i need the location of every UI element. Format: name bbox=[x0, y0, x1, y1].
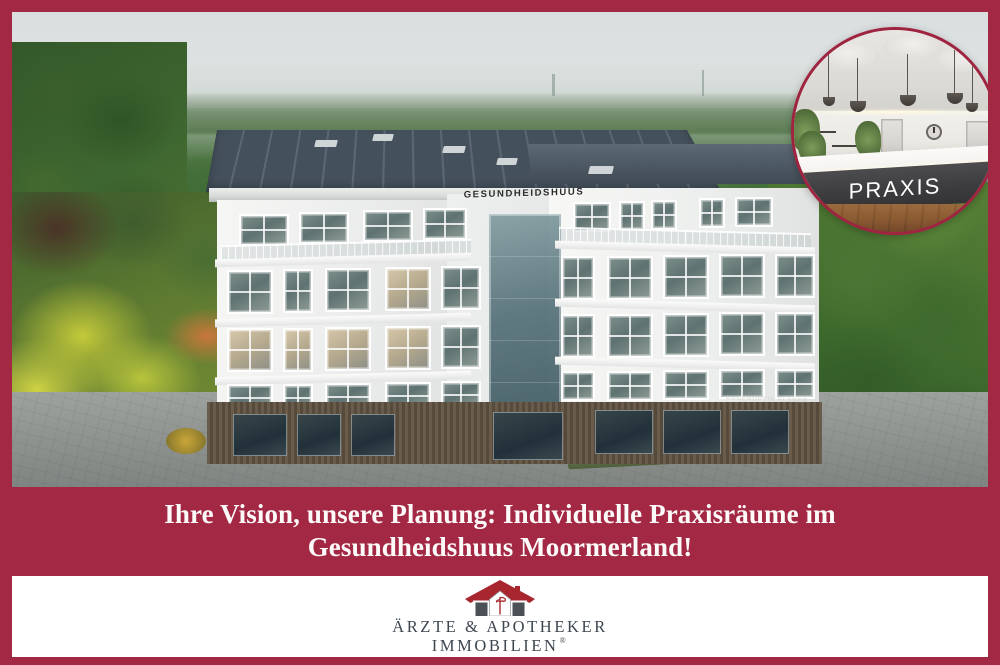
real-estate-poster: GESUNDHEIDSHUUS bbox=[0, 0, 1000, 665]
window bbox=[665, 257, 707, 297]
window bbox=[387, 328, 429, 368]
pendant-cord bbox=[828, 54, 829, 98]
church-spire-icon bbox=[552, 74, 555, 96]
wooden-floor bbox=[794, 204, 988, 232]
window bbox=[563, 373, 593, 399]
window bbox=[609, 373, 651, 399]
caption-line-2: Gesundheidshuus Moormerland! bbox=[308, 531, 693, 564]
roof-vent bbox=[496, 158, 518, 165]
window bbox=[777, 256, 813, 296]
ceiling-light-disc bbox=[935, 48, 988, 72]
roof-vent bbox=[442, 146, 466, 153]
window bbox=[327, 329, 369, 369]
window bbox=[443, 268, 479, 308]
praxis-inset-circle: PRAXIS bbox=[791, 27, 988, 235]
storefront-glazing bbox=[233, 414, 287, 456]
pendant-cord bbox=[857, 58, 858, 102]
storefront-glazing bbox=[595, 410, 653, 454]
logo-band: ÄRZTE & APOTHEKER IMMOBILIEN® bbox=[12, 576, 988, 657]
logo-line-1: ÄRZTE & APOTHEKER bbox=[392, 617, 608, 636]
window bbox=[229, 272, 271, 312]
logo-line-2: IMMOBILIEN® bbox=[432, 636, 569, 655]
pendant-lamp-icon bbox=[850, 101, 866, 112]
hero-photo: GESUNDHEIDSHUUS bbox=[12, 12, 988, 487]
house-with-aesculapian-staff-icon bbox=[463, 579, 537, 616]
cove-lighting bbox=[794, 110, 988, 114]
window bbox=[563, 316, 593, 356]
pendant-cord bbox=[907, 54, 908, 96]
storefront-glazing bbox=[297, 414, 341, 456]
registered-trademark-mark: ® bbox=[560, 636, 569, 646]
window bbox=[721, 256, 763, 296]
gesundheidshuus-building: GESUNDHEIDSHUUS bbox=[197, 130, 827, 460]
window bbox=[721, 314, 763, 354]
window bbox=[665, 315, 707, 355]
roof-vent bbox=[588, 166, 614, 174]
window bbox=[665, 372, 707, 398]
window bbox=[327, 270, 369, 310]
window bbox=[653, 202, 675, 228]
window bbox=[609, 316, 651, 356]
window bbox=[285, 271, 311, 311]
pendant-lamp-icon bbox=[966, 103, 978, 112]
window bbox=[777, 371, 813, 397]
window bbox=[365, 212, 411, 240]
window bbox=[621, 203, 643, 229]
roof-vent bbox=[372, 134, 394, 141]
pendant-cord bbox=[972, 66, 973, 104]
window bbox=[563, 258, 593, 298]
mast-icon bbox=[702, 70, 704, 96]
window bbox=[737, 199, 771, 225]
company-logo: ÄRZTE & APOTHEKER IMMOBILIEN® bbox=[392, 579, 608, 655]
entrance-glazing bbox=[493, 412, 563, 460]
window bbox=[301, 214, 347, 242]
window bbox=[609, 258, 651, 298]
window bbox=[575, 204, 609, 230]
logo-line-2-text: IMMOBILIEN bbox=[432, 636, 559, 655]
pendant-lamp-icon bbox=[947, 93, 963, 104]
window bbox=[229, 330, 271, 370]
window bbox=[425, 210, 465, 238]
window bbox=[285, 330, 311, 370]
storefront-glazing bbox=[351, 414, 395, 456]
storefront-glazing bbox=[731, 410, 789, 454]
storefront-glazing bbox=[663, 410, 721, 454]
caption-bar: Ihre Vision, unsere Planung: Individuell… bbox=[0, 487, 1000, 575]
pendant-cord bbox=[954, 50, 955, 94]
window bbox=[387, 269, 429, 309]
window bbox=[241, 216, 287, 244]
caption-line-1: Ihre Vision, unsere Planung: Individuell… bbox=[164, 498, 835, 531]
window bbox=[777, 314, 813, 354]
roof-vent bbox=[314, 140, 338, 147]
window bbox=[701, 200, 723, 226]
window bbox=[443, 327, 479, 367]
